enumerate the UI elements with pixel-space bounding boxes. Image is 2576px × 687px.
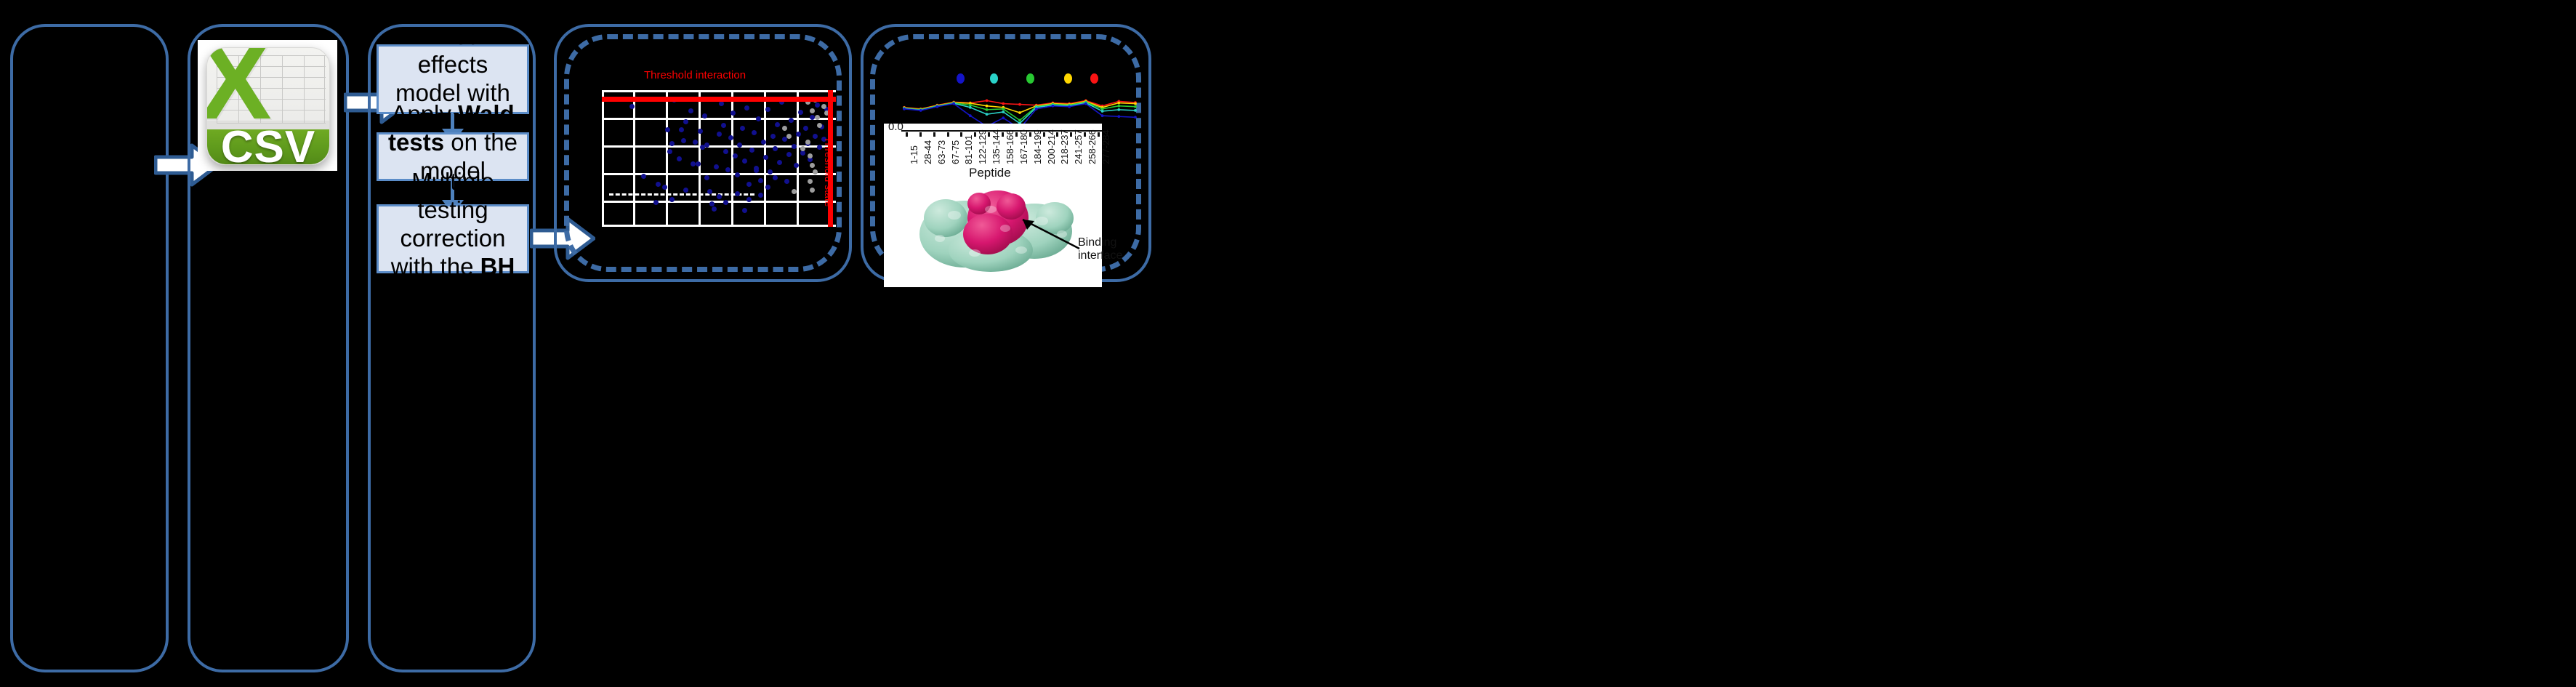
volcano-point: [754, 168, 759, 173]
peptide-axis-tick: [906, 132, 908, 137]
peptide-tick-label: 67-75: [950, 140, 961, 164]
volcano-point: [810, 108, 815, 113]
volcano-point: [691, 161, 696, 166]
volcano-point: [669, 141, 675, 146]
volcano-point: [665, 127, 670, 132]
peptide-series-marker: [1101, 114, 1104, 117]
peptide-series-marker: [1117, 115, 1120, 118]
peptide-series-marker: [1134, 105, 1137, 108]
panel-input: [10, 24, 169, 672]
volcano-point: [704, 175, 709, 180]
volcano-point: [712, 206, 717, 212]
peptide-series-marker: [969, 106, 972, 109]
volcano-point: [681, 138, 686, 143]
volcano-point: [717, 132, 722, 137]
volcano-point: [709, 201, 715, 206]
volcano-point: [784, 179, 789, 184]
legend-dot-5: [1090, 73, 1098, 84]
volcano-point: [808, 179, 813, 184]
peptide-series-marker: [986, 105, 989, 108]
peptide-tick-label: 1-15: [909, 145, 919, 164]
volcano-point: [677, 156, 682, 161]
threshold-interaction-line: [602, 97, 836, 102]
volcano-point: [679, 127, 684, 132]
peptide-series-marker: [952, 103, 955, 105]
peptide-tick-label: 135-144: [991, 129, 1002, 164]
peptide-tick-label: 28-44: [922, 140, 933, 164]
peptide-series-marker: [1068, 105, 1071, 108]
volcano-point: [808, 153, 813, 158]
volcano-point: [789, 118, 794, 123]
binding-interface-line1: Binding: [1078, 236, 1116, 249]
volcano-point: [746, 182, 752, 187]
volcano-point: [723, 200, 728, 205]
volcano-point: [719, 101, 724, 106]
peptide-axis-tick: [1056, 132, 1058, 137]
volcano-point: [765, 185, 770, 190]
volcano-point: [704, 142, 709, 148]
volcano-point: [768, 169, 773, 174]
volcano-point: [794, 163, 799, 168]
peptide-series-marker: [1002, 116, 1005, 119]
volcano-point: [777, 160, 782, 165]
peptide-series-marker: [969, 114, 972, 117]
volcano-point: [765, 107, 770, 112]
volcano-point: [813, 134, 818, 139]
volcano-point: [792, 189, 797, 194]
peptide-tick-label: 63-73: [936, 140, 947, 164]
volcano-point: [773, 146, 778, 151]
peptide-series-marker: [1117, 108, 1120, 111]
x-axis-title: Peptide: [969, 166, 1011, 180]
binding-interface-line2: interface: [1078, 249, 1122, 262]
volcano-point: [817, 145, 822, 150]
peptide-tick-label: 122-129: [977, 129, 988, 164]
volcano-point: [744, 105, 749, 111]
volcano-point: [798, 110, 803, 115]
volcano-point: [805, 140, 810, 145]
peptide-series-marker: [1002, 103, 1005, 105]
volcano-point: [800, 146, 805, 151]
peptide-axis-tick: [1098, 132, 1100, 137]
peptide-series-marker: [1084, 103, 1087, 105]
peptide-series-marker: [1134, 103, 1137, 105]
peptide-axis-tick: [1084, 132, 1086, 137]
volcano-point: [763, 155, 768, 160]
volcano-point: [758, 178, 763, 183]
volcano-point: [810, 188, 815, 193]
peptide-axis-line: [901, 130, 1102, 132]
volcano-point: [629, 104, 635, 109]
csv-format-label: CSV: [221, 121, 315, 166]
volcano-point: [746, 197, 752, 202]
peptide-series-marker: [1117, 102, 1120, 105]
volcano-point: [815, 103, 820, 108]
volcano-point: [735, 191, 740, 196]
step-correction-text: Multiple testing correctionwith the BH p…: [386, 168, 520, 310]
peptide-tick-label: 241-257: [1073, 129, 1084, 164]
legend-dot-4: [1064, 73, 1072, 84]
volcano-point: [735, 172, 740, 177]
volcano-point: [749, 148, 754, 153]
peptide-series-marker: [1117, 105, 1120, 108]
csv-card: X CSV: [198, 40, 337, 171]
threshold-state-label: Threshold state: [823, 137, 834, 207]
peptide-tick-label: 200-214: [1046, 129, 1057, 164]
peptide-axis-tick: [919, 132, 922, 137]
volcano-point: [707, 189, 712, 194]
volcano-point: [696, 161, 701, 166]
peptide-series-marker: [1052, 105, 1055, 108]
volcano-point: [740, 126, 745, 131]
peptide-series-marker: [1035, 108, 1038, 111]
volcano-point: [756, 116, 761, 121]
volcano-point: [698, 129, 703, 134]
excel-x-glyph: X: [209, 50, 261, 111]
csv-file-icon: X CSV: [206, 47, 330, 165]
peptide-series-marker: [986, 100, 989, 103]
volcano-point: [653, 200, 659, 205]
volcano-point: [782, 126, 787, 131]
volcano-point: [728, 135, 733, 140]
volcano-point: [693, 140, 698, 145]
volcano-plot: [602, 90, 836, 227]
peptide-axis-tick: [974, 132, 976, 137]
volcano-point: [714, 164, 719, 169]
volcano-point: [737, 142, 742, 148]
volcano-point-cloud: [602, 90, 836, 227]
peptide-axis-tick: [1015, 132, 1018, 137]
peptide-axis-tick: [1002, 132, 1004, 137]
peptide-axis-tick: [1070, 132, 1072, 137]
volcano-point: [752, 130, 757, 135]
volcano-point: [641, 174, 646, 179]
volcano-point: [815, 115, 820, 120]
peptide-series-marker: [986, 113, 989, 116]
volcano-point: [733, 153, 738, 158]
peptide-tick-label: 167-180: [1018, 129, 1029, 164]
volcano-point: [656, 182, 661, 187]
threshold-interaction-label: Threshold interaction: [644, 69, 746, 81]
legend-dot-1: [957, 73, 965, 84]
volcano-point: [758, 193, 763, 198]
volcano-point: [770, 134, 776, 139]
volcano-point: [667, 149, 672, 154]
volcano-point: [669, 197, 675, 202]
volcano-point: [786, 134, 792, 139]
peptide-tick-label: 81-101: [963, 135, 974, 164]
volcano-point: [792, 144, 797, 149]
volcano-point: [773, 175, 778, 180]
peptide-tick-label: 258-266: [1087, 129, 1098, 164]
peptide-series-marker: [1134, 109, 1137, 112]
peptide-tick-label: 218-237: [1059, 129, 1070, 164]
peptide-axis-tick: [960, 132, 962, 137]
peptide-series-marker: [936, 105, 939, 108]
peptide-axis-tick: [1029, 132, 1031, 137]
volcano-point: [761, 140, 766, 145]
volcano-point: [723, 149, 728, 154]
peptide-tick-label: 184-199: [1032, 129, 1043, 164]
volcano-point: [730, 111, 736, 116]
peptide-series-marker: [1101, 110, 1104, 113]
volcano-point: [683, 188, 688, 193]
peptide-axis-tick: [1043, 132, 1045, 137]
volcano-point: [813, 169, 818, 174]
volcano-point: [721, 123, 726, 128]
volcano-point: [683, 119, 688, 124]
peptide-series-marker: [986, 108, 989, 111]
legend-dot-2: [990, 73, 998, 84]
peptide-series-marker: [1002, 108, 1005, 111]
csv-format-band: CSV: [207, 129, 329, 164]
volcano-point: [786, 152, 792, 157]
peptide-series-marker: [1134, 116, 1137, 118]
workflow-figure: X CSV Fit a linear mixed-effects model w…: [0, 0, 2576, 687]
peptide-series-marker: [1018, 119, 1021, 122]
peptide-axis-tick: [988, 132, 990, 137]
step-correction-box[interactable]: Multiple testing correctionwith the BH p…: [377, 204, 529, 273]
volcano-point: [803, 126, 808, 131]
peptide-axis-tick: [947, 132, 949, 137]
volcano-point: [796, 132, 801, 137]
peptide-tick-label: 158-166: [1005, 129, 1015, 164]
binding-interface-pointer: [1007, 211, 1087, 254]
volcano-point: [725, 167, 730, 172]
peptide-series-marker: [1018, 111, 1021, 114]
peptide-tick-label: 277-284: [1100, 129, 1111, 164]
volcano-point: [775, 122, 780, 127]
peptide-series-marker: [1018, 103, 1021, 106]
peptide-series-marker: [903, 108, 906, 111]
legend-dot-3: [1026, 73, 1034, 84]
volcano-point: [810, 163, 815, 168]
peptide-series-marker: [919, 109, 922, 112]
peptide-series-marker: [1002, 111, 1005, 113]
volcano-point: [688, 108, 693, 113]
peptide-axis-tick: [933, 132, 935, 137]
volcano-point: [702, 113, 707, 118]
volcano-point: [662, 185, 667, 190]
volcano-point: [742, 208, 747, 213]
volcano-point: [717, 194, 722, 199]
binding-interface-label: Binding interface: [1078, 236, 1122, 263]
volcano-point: [742, 158, 747, 164]
volcano-point: [800, 150, 805, 156]
